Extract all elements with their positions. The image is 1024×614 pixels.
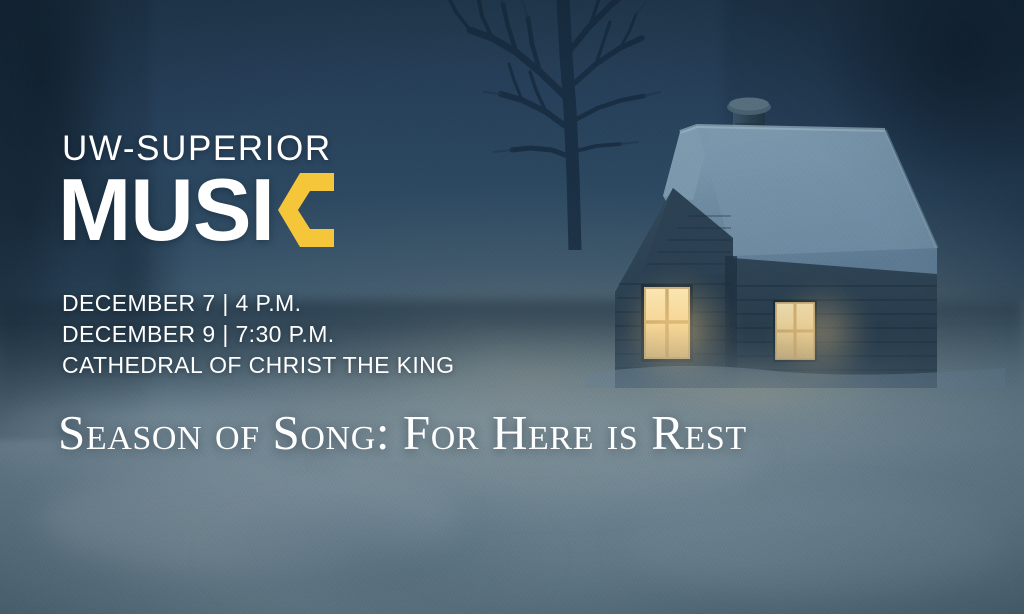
concert-poster: UW-SUPERIOR MUSI DECEMBER 7 | 4 P.M. DEC… [0,0,1024,614]
event-details: DECEMBER 7 | 4 P.M. DECEMBER 9 | 7:30 P.… [62,288,454,381]
event-detail-line: CATHEDRAL OF CHRIST THE KING [62,350,454,381]
concert-headline: Season of Song: For Here is Rest [58,404,978,461]
wordmark-text: MUSI [58,166,274,254]
music-wordmark: MUSI [58,165,334,255]
event-detail-line: DECEMBER 7 | 4 P.M. [62,288,454,319]
chevron-c-icon [278,173,334,247]
event-detail-line: DECEMBER 9 | 7:30 P.M. [62,319,454,350]
snowdrift [624,494,1004,594]
